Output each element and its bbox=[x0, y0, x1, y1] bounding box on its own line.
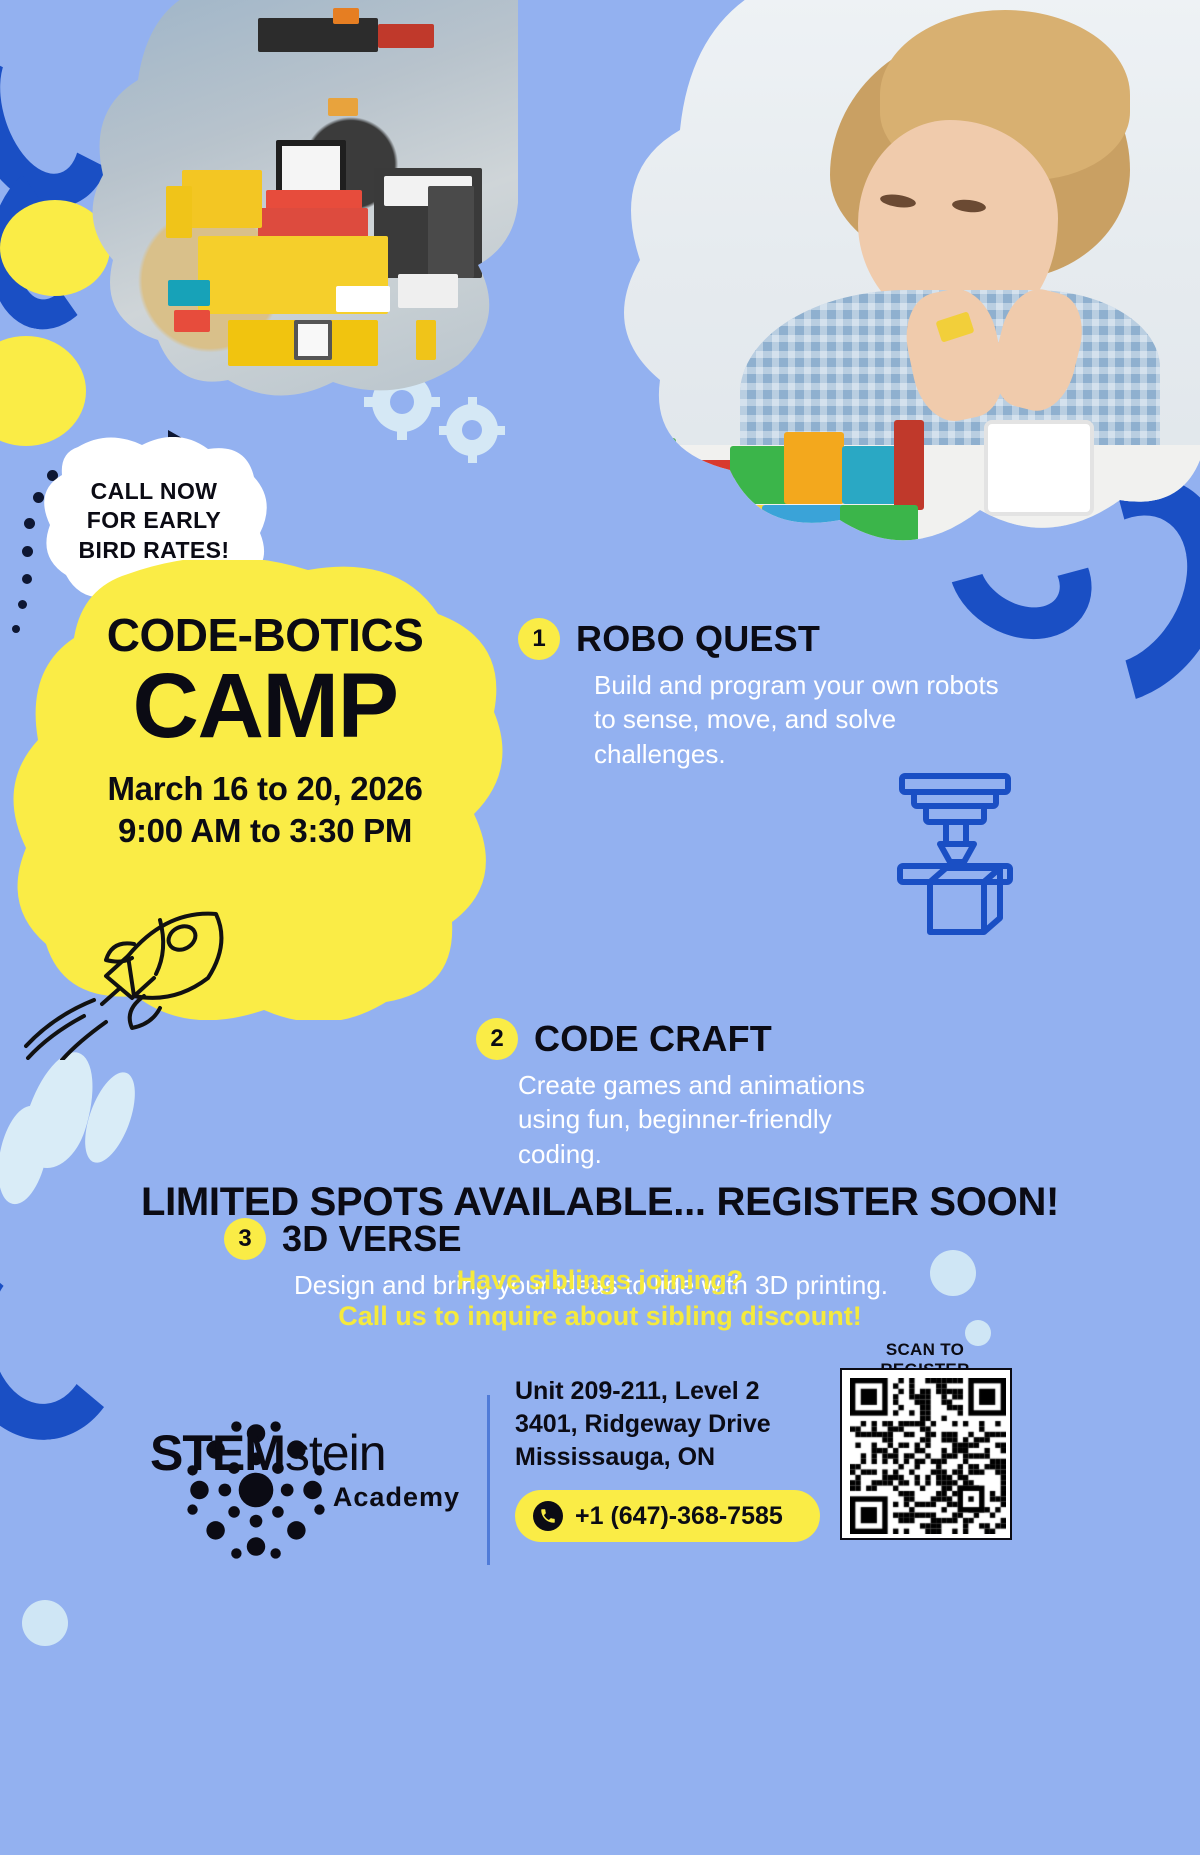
3d-printer-icon bbox=[890, 770, 1020, 960]
photo-lego-league-mat bbox=[78, 0, 518, 405]
address-line-2: 3401, Ridgeway Drive bbox=[515, 1408, 771, 1441]
feature-title: CODE CRAFT bbox=[534, 1021, 772, 1057]
feature-item: 2 CODE CRAFT Create games and animations… bbox=[476, 1018, 1016, 1171]
feature-title: 3D VERSE bbox=[282, 1221, 462, 1257]
siblings-line-1: Have siblings joining? bbox=[0, 1262, 1200, 1298]
phone-number: +1 (647)-368-7585 bbox=[575, 1502, 783, 1531]
phone-button[interactable]: +1 (647)-368-7585 bbox=[515, 1490, 820, 1542]
camp-title-block: CODE-BOTICS CAMP March 16 to 20, 2026 9:… bbox=[30, 612, 500, 852]
camp-dates: March 16 to 20, 2026 bbox=[30, 768, 500, 810]
camp-title-top: CODE-BOTICS bbox=[30, 612, 500, 658]
camp-title-main: CAMP bbox=[30, 660, 500, 754]
feature-description: Build and program your own robots to sen… bbox=[594, 668, 1024, 771]
photo-boy-building-lego bbox=[580, 0, 1200, 590]
address-line-3: Mississauga, ON bbox=[515, 1441, 771, 1474]
callout-line-1: CALL NOW bbox=[91, 477, 218, 506]
feature-header: 1 ROBO QUEST bbox=[518, 618, 1018, 660]
logo-name-bold: STEM bbox=[150, 1425, 285, 1481]
siblings-discount-note: Have siblings joining? Call us to inquir… bbox=[0, 1262, 1200, 1335]
feature-item: 1 ROBO QUEST Build and program your own … bbox=[518, 618, 1018, 771]
callout-line-2: FOR EARLY bbox=[87, 506, 221, 535]
feature-description: Create games and animations using fun, b… bbox=[518, 1068, 918, 1171]
yellow-dot-decoration-2 bbox=[0, 336, 86, 446]
feature-header: 2 CODE CRAFT bbox=[476, 1018, 1016, 1060]
logo-wordmark: STEMstein Academy bbox=[150, 1428, 460, 1513]
feature-number-badge: 1 bbox=[518, 618, 560, 660]
feature-title: ROBO QUEST bbox=[576, 621, 820, 657]
siblings-line-2: Call us to inquire about sibling discoun… bbox=[0, 1298, 1200, 1334]
blue-swirl-decoration-5 bbox=[0, 1223, 134, 1447]
rocket-icon bbox=[10, 880, 300, 1060]
logo-name: STEMstein bbox=[150, 1428, 460, 1478]
qr-code-icon[interactable] bbox=[840, 1368, 1012, 1540]
phone-icon bbox=[533, 1501, 563, 1531]
address-line-1: Unit 209-211, Level 2 bbox=[515, 1375, 771, 1408]
camp-times: 9:00 AM to 3:30 PM bbox=[30, 810, 500, 852]
poster-root: CALL NOW FOR EARLY BIRD RATES! CODE-BOTI… bbox=[0, 0, 1200, 1855]
logo-name-light: stein bbox=[285, 1425, 386, 1481]
footer-divider bbox=[487, 1395, 490, 1565]
pale-leaf-decoration bbox=[13, 1044, 107, 1177]
logo-subtitle: Academy bbox=[150, 1482, 460, 1513]
limited-spots-headline: LIMITED SPOTS AVAILABLE... REGISTER SOON… bbox=[0, 1180, 1200, 1225]
pale-leaf-decoration-2 bbox=[75, 1066, 145, 1169]
pale-dot-decoration-3 bbox=[22, 1600, 68, 1646]
address-block: Unit 209-211, Level 2 3401, Ridgeway Dri… bbox=[515, 1375, 771, 1474]
feature-number-badge: 2 bbox=[476, 1018, 518, 1060]
